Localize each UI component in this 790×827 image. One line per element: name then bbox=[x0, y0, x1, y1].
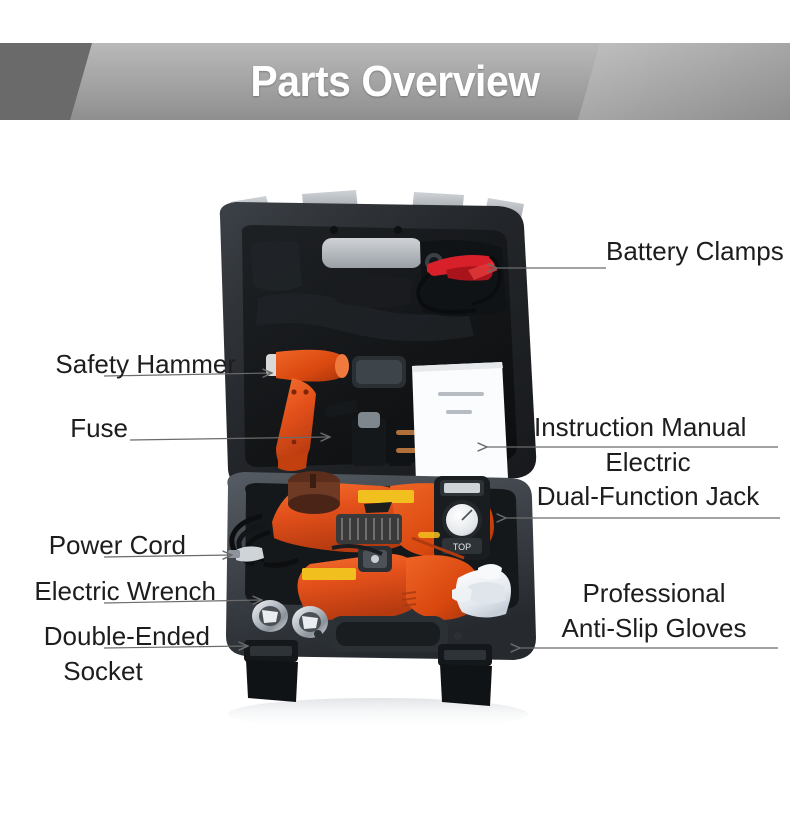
infographic-canvas: Parts Overview bbox=[0, 0, 790, 827]
label-fuse: Fuse bbox=[0, 413, 128, 444]
label-gloves-line1: Professional bbox=[520, 578, 788, 609]
label-power-cord: Power Cord bbox=[0, 530, 186, 561]
case-base: TOP bbox=[226, 471, 536, 706]
instruction-manual bbox=[412, 362, 508, 482]
label-jack-line2: Dual-Function Jack bbox=[512, 481, 784, 512]
case-lid bbox=[220, 190, 536, 486]
label-jack-line1: Electric bbox=[512, 447, 784, 478]
label-electric-wrench: Electric Wrench bbox=[0, 576, 216, 607]
label-battery-clamps: Battery Clamps bbox=[606, 236, 784, 267]
svg-text:TOP: TOP bbox=[453, 542, 471, 552]
label-gloves-line2: Anti-Slip Gloves bbox=[520, 613, 788, 644]
label-safety-hammer: Safety Hammer bbox=[0, 349, 236, 380]
tool-case-illustration: TOP bbox=[206, 186, 546, 731]
battery-clamps bbox=[418, 240, 506, 317]
label-instruction-manual: Instruction Manual bbox=[534, 412, 746, 443]
case-latch-right bbox=[438, 644, 492, 706]
label-socket-line1: Double-Ended bbox=[0, 621, 210, 652]
header-banner: Parts Overview bbox=[0, 43, 790, 120]
page-title: Parts Overview bbox=[28, 43, 763, 120]
case-latch-left bbox=[244, 640, 298, 702]
jack-control-panel: TOP bbox=[434, 476, 490, 560]
label-socket-line2: Socket bbox=[0, 656, 206, 687]
